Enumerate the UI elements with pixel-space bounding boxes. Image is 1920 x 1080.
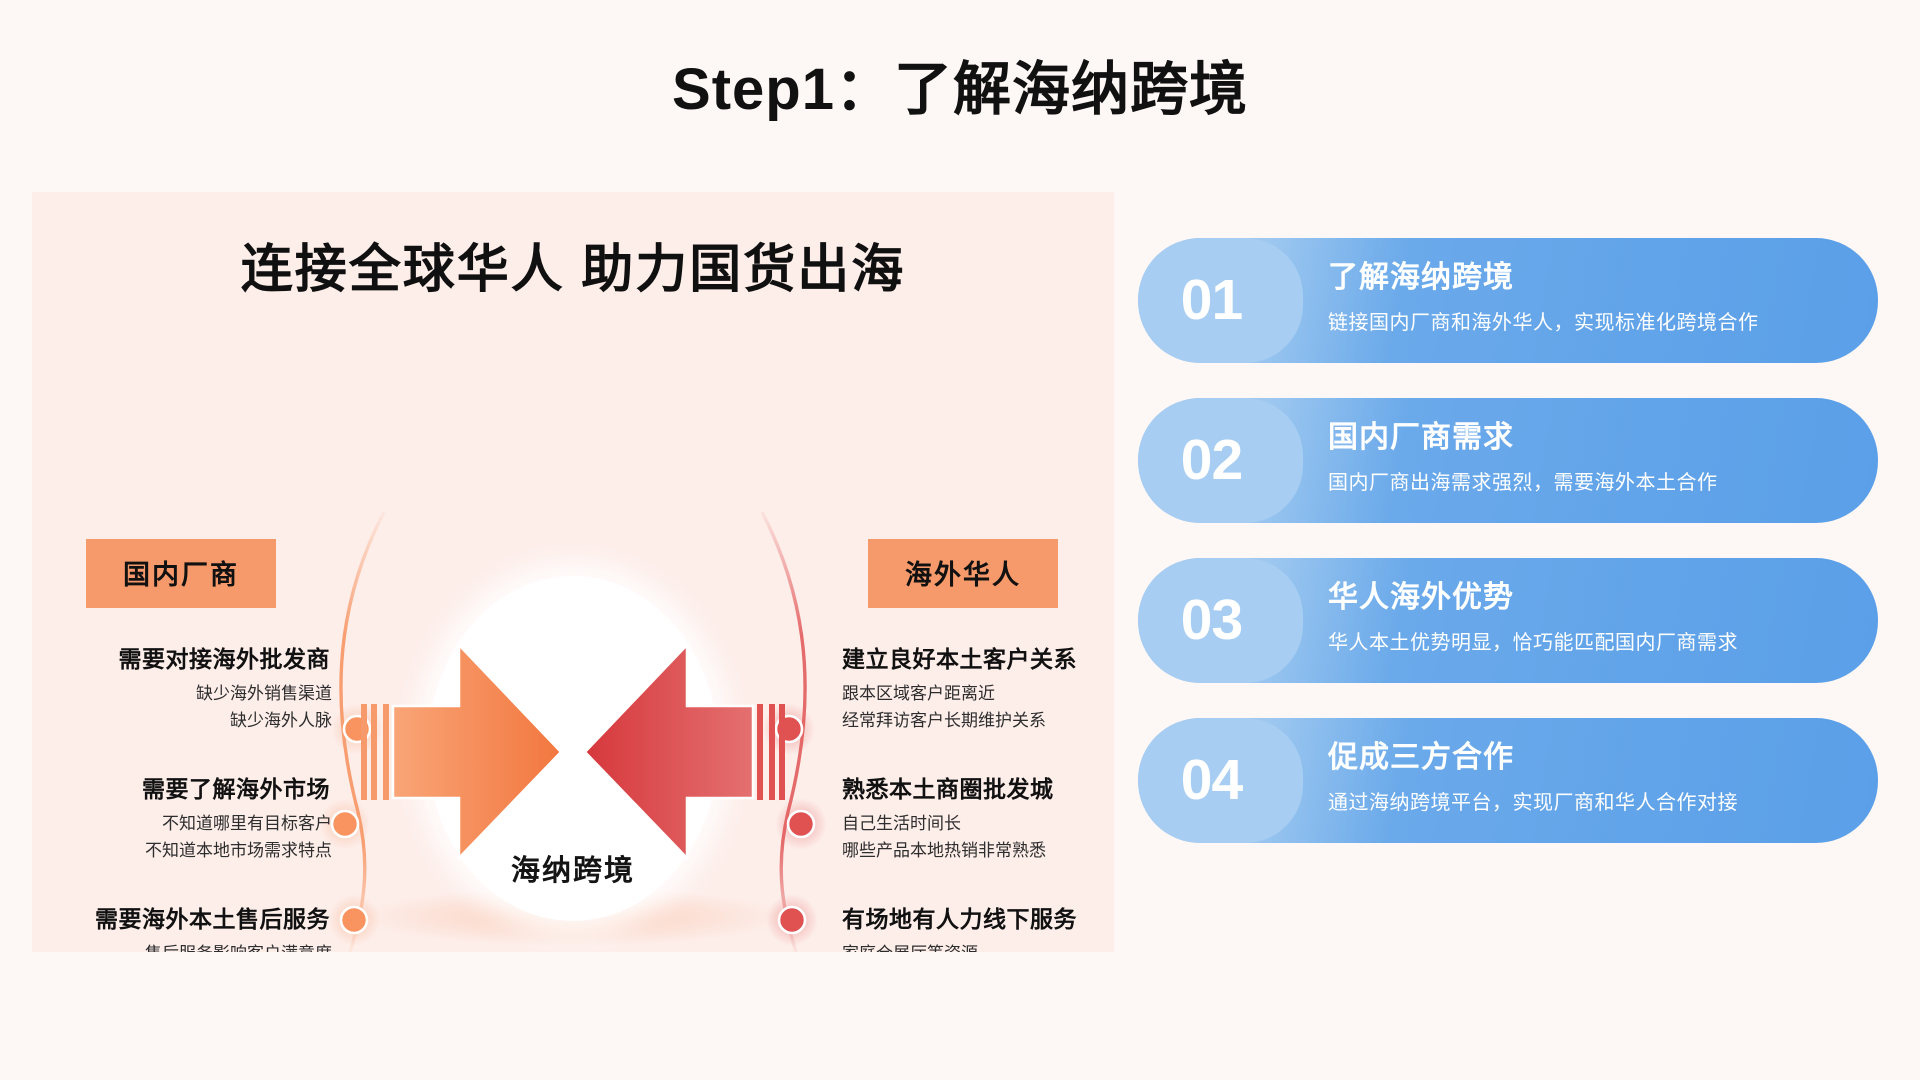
right-item-1-sub2: 经常拜访客户长期维护关系 [842,709,1112,734]
step-card-04-number: 04 [1181,752,1260,809]
left-item-3-title: 需要海外本土售后服务 [62,900,330,934]
right-item-3-title: 有场地有人力线下服务 [842,900,1112,934]
panel-heading: 连接全球华人 助力国货出海 [32,227,1114,302]
step-card-04-title: 促成三方合作 [1328,740,1852,776]
step-card-04-number-panel: 04 [1138,718,1303,843]
left-item-1-sub1: 缺少海外销售渠道 [62,682,332,707]
left-item-3: 需要海外本土售后服务 售后服务影响客户满意度 需要及时响应客户需求 [62,900,332,952]
right-item-2-sub1: 自己生活时间长 [842,812,1112,837]
right-item-3-sub1: 家庭仓展厅等资源 [842,942,1112,952]
step-card-03-desc: 华人本土优势明显，恰巧能匹配国内厂商需求 [1328,626,1852,655]
center-graphic [323,562,823,952]
step-card-04[interactable]: 04 促成三方合作 通过海纳跨境平台，实现厂商和华人合作对接 [1138,718,1878,843]
steps-list: 01 了解海纳跨境 链接国内厂商和海外华人，实现标准化跨境合作 02 国内厂商需… [1138,238,1878,878]
infographic-panel: 连接全球华人 助力国货出海 [32,192,1114,952]
right-item-1-sub1: 跟本区域客户距离近 [842,682,1112,707]
step-card-03-title: 华人海外优势 [1328,580,1852,616]
step-card-03-body: 华人海外优势 华人本土优势明显，恰巧能匹配国内厂商需求 [1328,580,1852,655]
badge-overseas-chinese: 海外华人 [868,539,1058,608]
right-item-1-title: 建立良好本土客户关系 [842,640,1112,674]
right-item-2-title: 熟悉本土商圈批发城 [842,770,1112,804]
step-card-04-desc: 通过海纳跨境平台，实现厂商和华人合作对接 [1328,786,1852,815]
left-item-3-sub1: 售后服务影响客户满意度 [62,942,332,952]
step-card-01-number: 01 [1181,272,1260,329]
step-card-01-number-panel: 01 [1138,238,1303,363]
page-title: Step1：了解海纳跨境 [0,42,1920,126]
left-item-1: 需要对接海外批发商 缺少海外销售渠道 缺少海外人脉 [62,640,332,733]
step-card-03-number-panel: 03 [1138,558,1303,683]
step-card-03[interactable]: 03 华人海外优势 华人本土优势明显，恰巧能匹配国内厂商需求 [1138,558,1878,683]
step-card-01-desc: 链接国内厂商和海外华人，实现标准化跨境合作 [1328,306,1852,335]
arrow-left-icon [585,645,785,858]
step-card-03-number: 03 [1181,592,1260,649]
right-item-1: 建立良好本土客户关系 跟本区域客户距离近 经常拜访客户长期维护关系 [842,640,1112,733]
converging-arrows [323,562,823,952]
left-item-2-title: 需要了解海外市场 [62,770,330,804]
left-item-1-title: 需要对接海外批发商 [62,640,330,674]
step-card-02[interactable]: 02 国内厂商需求 国内厂商出海需求强烈，需要海外本土合作 [1138,398,1878,523]
step-card-04-body: 促成三方合作 通过海纳跨境平台，实现厂商和华人合作对接 [1328,740,1852,815]
brand-base-label: 海纳跨境 [32,847,1114,889]
step-card-02-number: 02 [1181,432,1260,489]
step-card-01-title: 了解海纳跨境 [1328,260,1852,296]
step-card-01-body: 了解海纳跨境 链接国内厂商和海外华人，实现标准化跨境合作 [1328,260,1852,335]
step-card-02-title: 国内厂商需求 [1328,420,1852,456]
left-item-1-sub2: 缺少海外人脉 [62,709,332,734]
step-card-02-desc: 国内厂商出海需求强烈，需要海外本土合作 [1328,466,1852,495]
step-card-01[interactable]: 01 了解海纳跨境 链接国内厂商和海外华人，实现标准化跨境合作 [1138,238,1878,363]
left-item-2-sub1: 不知道哪里有目标客户 [62,812,332,837]
badge-domestic-manufacturers: 国内厂商 [86,539,276,608]
step-card-02-number-panel: 02 [1138,398,1303,523]
step-card-02-body: 国内厂商需求 国内厂商出海需求强烈，需要海外本土合作 [1328,420,1852,495]
right-item-3: 有场地有人力线下服务 家庭仓展厅等资源 有车可以配送可以售后维修 [842,900,1112,952]
arrow-right-icon [361,645,561,858]
